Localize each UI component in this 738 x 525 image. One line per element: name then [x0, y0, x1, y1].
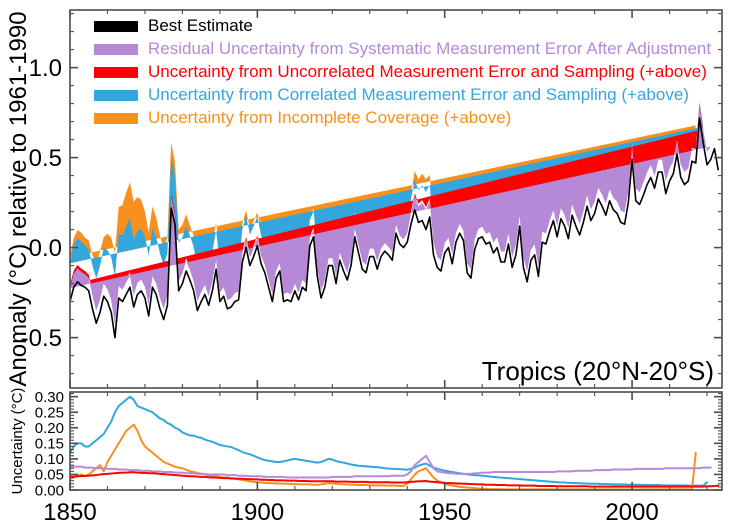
uncertainty-bands	[70, 102, 718, 338]
y-tick-label: 0.00	[35, 482, 64, 499]
legend-label-coverage: Uncertainty from Incomplete Coverage (+a…	[148, 108, 511, 127]
figure-root: 1850190019502000-0.50.00.51.00.000.050.1…	[0, 0, 738, 525]
y-tick-label: 0.20	[35, 420, 64, 437]
legend-label-systematic: Residual Uncertainty from Systematic Mea…	[148, 39, 711, 58]
legend: Best EstimateResidual Uncertainty from S…	[94, 16, 711, 127]
y-tick-label: 1.0	[29, 55, 62, 82]
y-tick-label: 0.0	[29, 235, 62, 262]
axes: 1850190019502000-0.50.00.51.00.000.050.1…	[5, 10, 722, 525]
y-tick-label: 0.15	[35, 436, 64, 453]
climate-uncertainty-chart: 1850190019502000-0.50.00.51.00.000.050.1…	[0, 0, 738, 525]
anomaly-panel	[70, 102, 718, 338]
y-tick-label: 0.5	[29, 145, 62, 172]
uncertainty-line-1	[70, 425, 696, 490]
panel2-ylabel: Uncertainty (°C)	[9, 388, 26, 495]
x-tick-label: 1850	[43, 499, 96, 525]
y-tick-label: 0.25	[35, 404, 64, 421]
panel-title: Tropics (20°N-20°S)	[482, 356, 714, 386]
y-tick-label: 0.30	[35, 389, 64, 406]
legend-swatch-systematic	[94, 44, 138, 55]
legend-label-best-estimate: Best Estimate	[148, 16, 253, 35]
legend-swatch-best-estimate	[94, 21, 138, 32]
y-tick-label: 0.05	[35, 467, 64, 484]
legend-swatch-uncorrelated	[94, 67, 138, 78]
y-tick-label: 0.10	[35, 451, 64, 468]
x-tick-label: 1900	[231, 499, 284, 525]
legend-label-uncorrelated: Uncertainty from Uncorrelated Measuremen…	[148, 62, 707, 81]
uncertainty-lines	[70, 397, 718, 490]
legend-label-correlated: Uncertainty from Correlated Measurement …	[148, 85, 689, 104]
panel1-ylabel: Anomaly (°C) relative to 1961-1990	[5, 11, 32, 386]
legend-swatch-correlated	[94, 90, 138, 101]
uncertainty-panel	[70, 397, 718, 490]
x-tick-label: 1950	[418, 499, 471, 525]
x-tick-label: 2000	[605, 499, 658, 525]
legend-swatch-coverage	[94, 113, 138, 124]
